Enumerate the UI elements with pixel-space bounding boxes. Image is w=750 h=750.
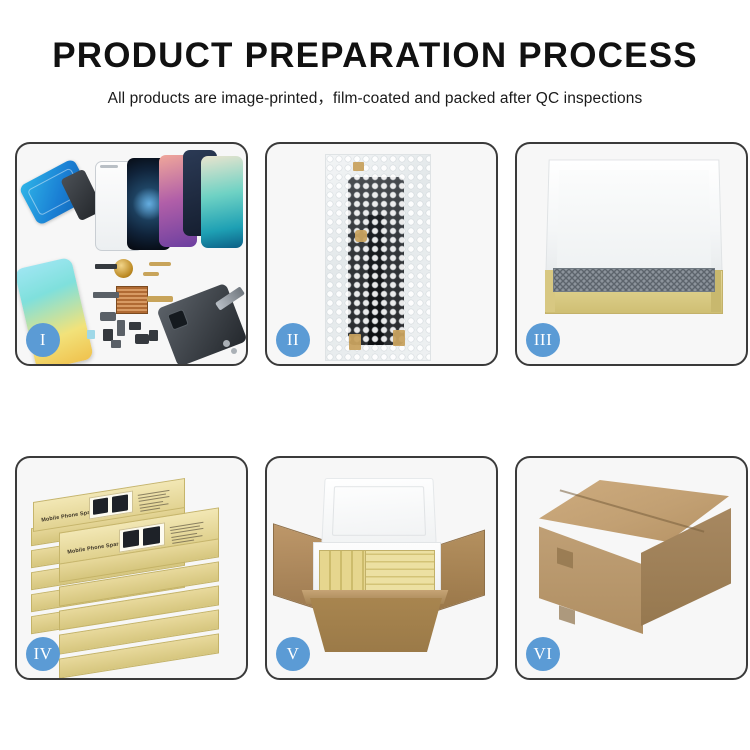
flex-cable-3 [147,296,173,302]
step-badge-4: IV [26,637,60,671]
yellow-boxes-inside-stacked [365,550,435,592]
part-bracket-4 [129,322,141,330]
step-badge-2: II [276,323,310,357]
carton-front [301,598,451,652]
part-bracket-1 [100,312,116,321]
part-bracket-6 [111,340,121,348]
page-subtitle: All products are image-printed，film-coat… [0,86,750,108]
tape-piece-bottom-right [393,330,405,346]
white-box-lid [545,159,722,278]
product-preparation-infographic: PRODUCT PREPARATION PROCESS All products… [0,0,750,750]
page-title: PRODUCT PREPARATION PROCESS [0,38,750,75]
flex-cable-1 [149,262,171,266]
step-panel-6: VI [515,456,748,680]
step-badge-1: I [26,323,60,357]
step-panel-3: III [515,142,748,366]
step-panel-4: Mobile Phone Spare Parts Mobile Phone Sp… [15,456,248,680]
screw-2 [231,348,237,354]
tape-piece-top [353,162,364,171]
step-badge-6: VI [526,637,560,671]
part-speaker [135,334,149,344]
header: PRODUCT PREPARATION PROCESS All products… [0,0,750,108]
step-panel-2: II [265,142,498,366]
part-bracket-5 [149,330,158,341]
logic-board-chip [116,286,148,314]
screw-1 [223,340,230,347]
part-flex-strip [93,292,119,298]
tape-piece-bottom-left [349,334,361,350]
part-bracket-3 [117,320,125,336]
bubble-wrap-bag [325,154,431,361]
tape-piece-mid [355,230,367,242]
step-badge-3: III [526,323,560,357]
part-camera-lens [87,330,95,339]
step-panel-1: I [15,142,248,366]
flex-cable-2 [143,272,159,276]
foam-box-lid [321,478,436,544]
step-panel-5: V [265,456,498,680]
part-bar-1 [95,264,117,269]
steps-grid: I II [15,142,735,680]
phone-teal-gradient [201,156,243,248]
bubble-texture [326,155,430,360]
carton-left-face [539,522,643,634]
bubble-wrapped-contents [553,268,715,292]
box-stack: Mobile Phone Spare Parts Mobile Phone Sp… [31,476,239,666]
step-badge-5: V [276,637,310,671]
